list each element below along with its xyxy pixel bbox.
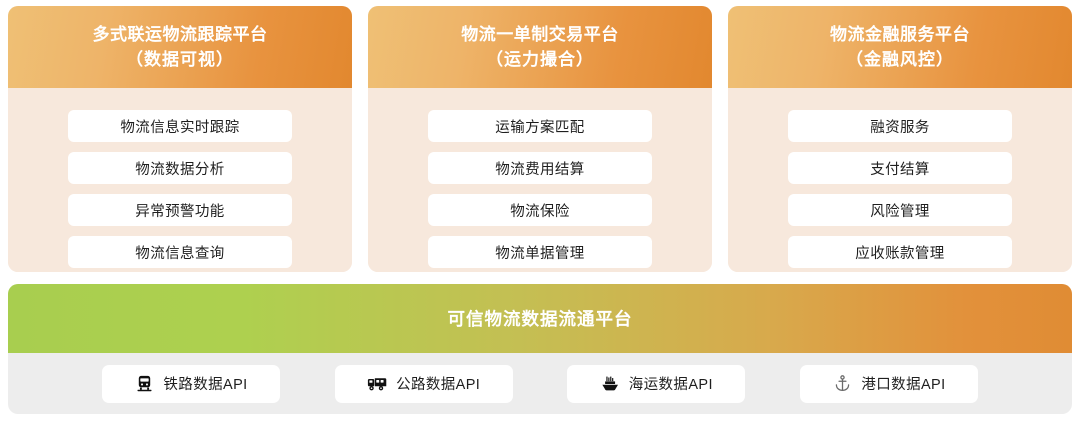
platform-cards-row: 多式联运物流跟踪平台 （数据可视） 物流信息实时跟踪 物流数据分析 异常预警功能…: [8, 6, 1072, 272]
platform-card-subtitle: （金融风控）: [846, 47, 954, 72]
feature-pill[interactable]: 运输方案匹配: [428, 110, 652, 142]
exchange-banner-title: 可信物流数据流通平台: [448, 306, 633, 331]
ship-icon: [600, 374, 620, 394]
feature-pill[interactable]: 物流保险: [428, 194, 652, 226]
logistics-platform-diagram: 多式联运物流跟踪平台 （数据可视） 物流信息实时跟踪 物流数据分析 异常预警功能…: [0, 0, 1080, 431]
feature-pill[interactable]: 物流单据管理: [428, 236, 652, 268]
platform-card-feature-list: 运输方案匹配 物流费用结算 物流保险 物流单据管理: [368, 88, 712, 272]
feature-pill[interactable]: 支付结算: [788, 152, 1012, 184]
platform-card-subtitle: （运力撮合）: [486, 47, 594, 72]
feature-pill[interactable]: 物流数据分析: [68, 152, 292, 184]
data-exchange-section: 可信物流数据流通平台 铁路数据API: [8, 284, 1072, 414]
feature-pill[interactable]: 物流信息实时跟踪: [68, 110, 292, 142]
api-button-railway[interactable]: 铁路数据API: [102, 365, 280, 403]
api-button-highway[interactable]: 公路数据API: [335, 365, 513, 403]
feature-pill[interactable]: 应收账款管理: [788, 236, 1012, 268]
platform-card-feature-list: 融资服务 支付结算 风险管理 应收账款管理: [728, 88, 1072, 272]
api-button-label: 公路数据API: [396, 373, 480, 394]
api-button-label: 铁路数据API: [163, 373, 247, 394]
train-icon: [134, 374, 154, 394]
feature-pill[interactable]: 融资服务: [788, 110, 1012, 142]
feature-pill[interactable]: 风险管理: [788, 194, 1012, 226]
exchange-banner: 可信物流数据流通平台: [8, 284, 1072, 353]
platform-card-multimodal-tracking[interactable]: 多式联运物流跟踪平台 （数据可视） 物流信息实时跟踪 物流数据分析 异常预警功能…: [8, 6, 352, 272]
api-button-row: 铁路数据API 公路数据API: [8, 353, 1072, 414]
platform-card-single-bill-trading[interactable]: 物流一单制交易平台 （运力撮合） 运输方案匹配 物流费用结算 物流保险 物流单据…: [368, 6, 712, 272]
platform-card-header: 物流金融服务平台 （金融风控）: [728, 6, 1072, 88]
platform-card-header: 物流一单制交易平台 （运力撮合）: [368, 6, 712, 88]
truck-icon: [367, 374, 387, 394]
platform-card-subtitle: （数据可视）: [126, 47, 234, 72]
platform-card-logistics-finance[interactable]: 物流金融服务平台 （金融风控） 融资服务 支付结算 风险管理 应收账款管理: [728, 6, 1072, 272]
platform-card-title: 多式联运物流跟踪平台: [93, 22, 268, 47]
api-button-maritime[interactable]: 海运数据API: [567, 365, 745, 403]
platform-card-feature-list: 物流信息实时跟踪 物流数据分析 异常预警功能 物流信息查询: [8, 88, 352, 272]
feature-pill[interactable]: 物流信息查询: [68, 236, 292, 268]
feature-pill[interactable]: 异常预警功能: [68, 194, 292, 226]
api-button-label: 港口数据API: [861, 373, 945, 394]
api-button-port[interactable]: 港口数据API: [800, 365, 978, 403]
platform-card-header: 多式联运物流跟踪平台 （数据可视）: [8, 6, 352, 88]
feature-pill[interactable]: 物流费用结算: [428, 152, 652, 184]
platform-card-title: 物流金融服务平台: [830, 22, 970, 47]
api-button-label: 海运数据API: [629, 373, 713, 394]
platform-card-title: 物流一单制交易平台: [461, 22, 619, 47]
anchor-icon: [832, 374, 852, 394]
